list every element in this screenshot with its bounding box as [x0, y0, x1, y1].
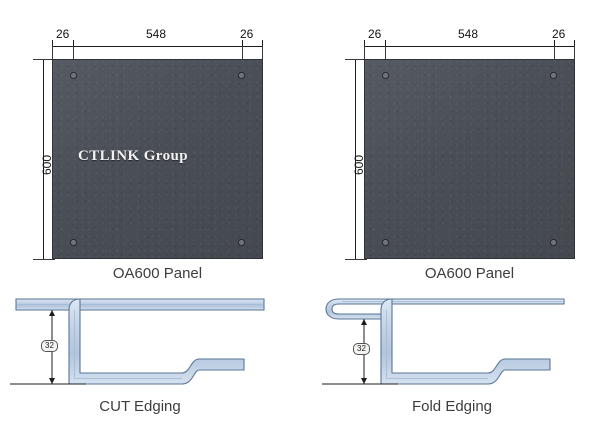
dim-label-span: 548 [458, 27, 478, 41]
screw-hole-bottom-left [70, 239, 77, 246]
fold-dim-arrow-top [361, 319, 367, 325]
profile-caption-cut: CUT Edging [30, 398, 250, 415]
cut-web-and-bottom-leg [69, 299, 244, 384]
profile-figure-cut: 32 CUT Edging [0, 285, 300, 440]
panel-surface: CTLINK Group [52, 59, 263, 259]
screw-hole-bottom-right [550, 239, 557, 246]
fold-web-and-bottom-leg [381, 299, 550, 384]
screw-hole-bottom-right [238, 239, 245, 246]
cut-dim-arrow-bottom [49, 378, 55, 384]
profile-figure-fold: 32 Fold Edging [312, 285, 600, 440]
dim-label-left-margin: 26 [368, 27, 381, 41]
screw-hole-top-left [382, 72, 389, 79]
fold-top-flange-hook [326, 299, 564, 319]
profile-caption-fold: Fold Edging [342, 398, 562, 415]
extension-line-left-edge [52, 46, 53, 59]
screw-hole-top-left [70, 72, 77, 79]
screw-hole-top-right [550, 72, 557, 79]
extension-line-right-edge [262, 46, 263, 59]
fold-web-highlight [387, 310, 489, 379]
panel-caption-left: OA600 Panel [52, 265, 263, 282]
cut-web-highlight [75, 310, 183, 379]
dim-label-right-margin: 26 [552, 27, 565, 41]
top-dimension-line [52, 46, 263, 47]
fold-dim-arrow-bottom [361, 378, 367, 384]
extension-line-left-edge [364, 46, 365, 59]
panel-surface [364, 59, 575, 259]
dim-label-span: 548 [146, 27, 166, 41]
extension-line-bottom [33, 259, 55, 260]
watermark-text: CTLINK Group [78, 148, 188, 165]
dim-label-left-margin: 26 [56, 27, 69, 41]
panel-figure-right: 26 548 26 600 OA600 Panel [312, 0, 600, 285]
panel-figure-left: 26 548 26 600 CTLINK Group OA600 Panel [0, 0, 300, 285]
cut-dim-arrow-top [49, 310, 55, 316]
dim-label-right-margin: 26 [240, 27, 253, 41]
screw-hole-bottom-left [382, 239, 389, 246]
fold-height-dim-badge: 32 [353, 343, 370, 355]
top-dimension-line [364, 46, 575, 47]
extension-line-right-edge [574, 46, 575, 59]
drawing-canvas: 26 548 26 600 CTLINK Group OA600 Panel 2… [0, 0, 600, 440]
screw-hole-top-right [238, 72, 245, 79]
cut-height-dim-badge: 32 [41, 340, 58, 352]
extension-line-bottom [345, 259, 367, 260]
panel-caption-right: OA600 Panel [364, 265, 575, 282]
